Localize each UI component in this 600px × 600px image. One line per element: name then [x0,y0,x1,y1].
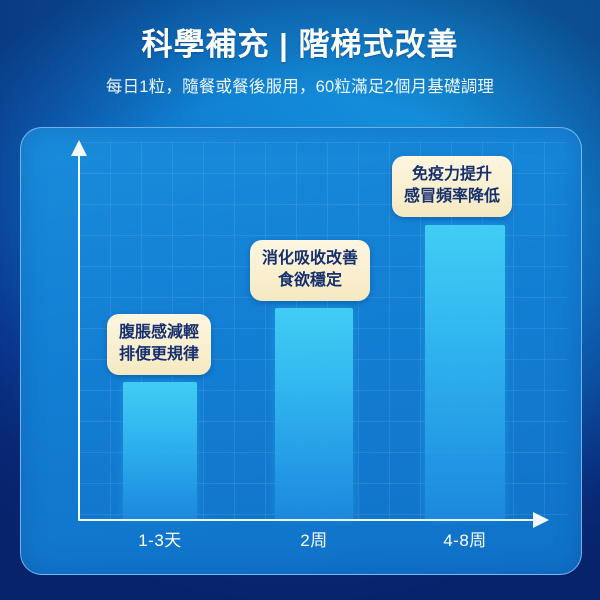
bar-3-callout-line2: 感冒頻率降低 [404,186,500,208]
y-axis-line [78,154,80,521]
bar-1-callout-line2: 排便更規律 [119,344,199,366]
x-axis-arrow-icon [533,512,549,528]
bar-3 [425,225,505,519]
page-title: 科學補充 | 階梯式改善 [0,0,600,65]
bar-2-callout-line2: 食欲穩定 [262,270,358,292]
bar-1-callout: 腹脹感減輕 排便更規律 [107,314,211,375]
bar-2 [275,308,353,519]
x-tick-2: 2周 [274,526,354,551]
bar-2-callout: 消化吸收改善 食欲穩定 [250,240,370,301]
bar-2-callout-line1: 消化吸收改善 [262,250,358,267]
bar-1 [123,382,197,519]
bar-3-callout: 免疫力提升 感冒頻率降低 [392,156,512,217]
x-tick-3: 4-8周 [425,526,505,551]
bar-1-callout-line1: 腹脹感減輕 [119,324,199,341]
y-axis-arrow-icon [71,140,87,156]
x-tick-1: 1-3天 [120,526,200,551]
x-axis-line [78,519,535,521]
bar-3-callout-line1: 免疫力提升 [412,166,492,183]
poster-header: 科學補充 | 階梯式改善 每日1粒，隨餐或餐後服用，60粒滿足2個月基礎調理 [0,0,600,98]
chart-panel: 腹脹感減輕 排便更規律 1-3天 消化吸收改善 食欲穩定 2周 免疫力提升 感冒… [20,127,582,575]
page-subtitle: 每日1粒，隨餐或餐後服用，60粒滿足2個月基礎調理 [0,65,600,98]
promo-poster: 科學補充 | 階梯式改善 每日1粒，隨餐或餐後服用，60粒滿足2個月基礎調理 腹… [0,0,600,600]
